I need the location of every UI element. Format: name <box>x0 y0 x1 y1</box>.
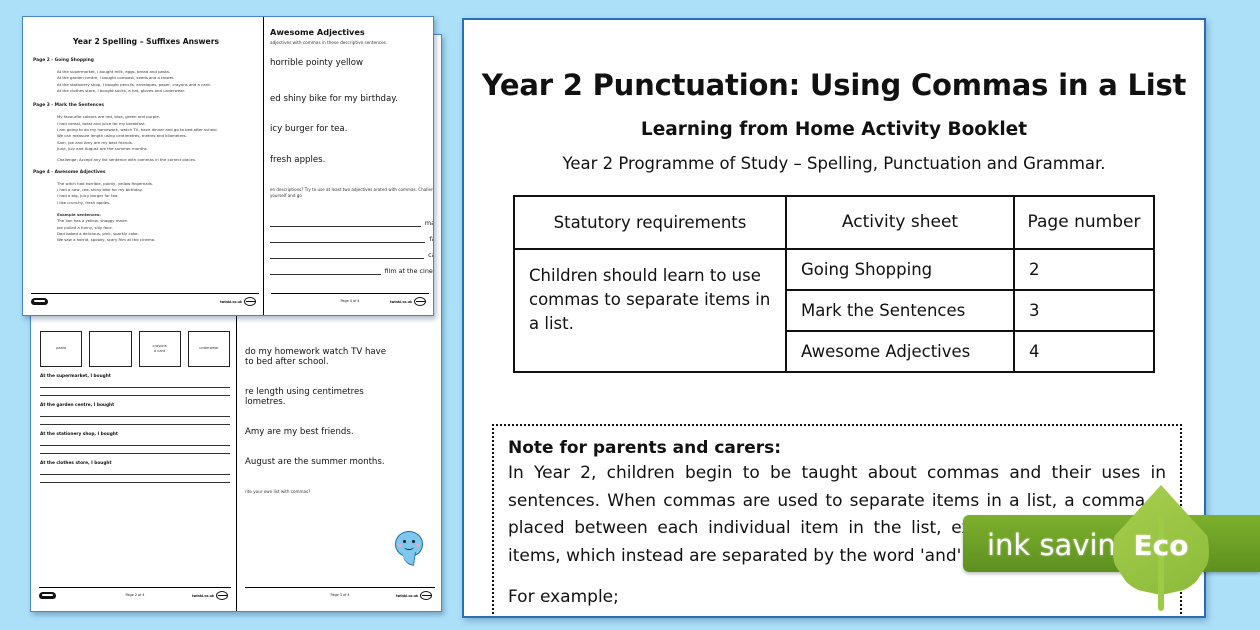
adjectives-answer-row: face. <box>270 234 434 243</box>
comma-cheek-right <box>416 544 420 547</box>
adjectives-answer-row: film at the cinema. <box>270 266 434 275</box>
worksheet-challenge: rite your own list with commas? <box>245 489 441 495</box>
answer-word: cake. <box>428 251 434 259</box>
twinkl-logo-icon <box>39 592 56 599</box>
thumbnail-sheet-front[interactable]: Year 2 Spelling – Suffixes Answers Page … <box>22 16 434 316</box>
answer-line: June, July and August are the summer mon… <box>57 146 259 152</box>
answer-line <box>270 266 381 275</box>
comma-eye-left <box>403 540 406 543</box>
footer-url: twinkl.co.uk <box>192 594 214 598</box>
footer-page-number: Page 3 of 4 <box>330 593 349 597</box>
cell-activity-sheet: Awesome Adjectives <box>786 331 1014 372</box>
adjectives-line: ed shiny bike for my birthday. <box>270 94 434 104</box>
picture-prompt-row: pasta crayonsa card underwear <box>40 331 230 367</box>
answer-line: At the clothes store, I bought socks, a … <box>57 88 259 94</box>
resource-thumbnail-stack[interactable]: pasta crayonsa card underwear At the sup… <box>22 16 442 614</box>
footer-page-number: Page 2 of 4 <box>125 593 144 597</box>
sheet-divider <box>263 17 264 315</box>
cell-activity-sheet: Going Shopping <box>786 249 1014 290</box>
adjectives-line: fresh apples. <box>270 155 434 165</box>
footer-url: twinkl.co.uk <box>390 300 412 304</box>
requirements-table: Statutory requirements Activity sheet Pa… <box>513 195 1155 373</box>
footer-url: twinkl.co.uk <box>396 594 418 598</box>
adjectives-instruction: adjectives with commas in these descript… <box>270 40 434 45</box>
ink-saving-eco-badge: ink saving Eco <box>963 483 1260 613</box>
worksheet-line: do my homework watch TV have <box>245 347 441 357</box>
answer-line <box>270 250 424 259</box>
section-heading: Page 3 - Mark the Sentences <box>33 103 259 108</box>
fill-line <box>40 388 230 397</box>
twinkl-mark-icon <box>244 297 256 306</box>
fill-line <box>40 408 230 417</box>
fill-line <box>40 466 230 475</box>
footer-brand: twinkl.co.uk <box>396 591 432 600</box>
cell-page-number: 3 <box>1014 290 1154 331</box>
adjectives-page-title: Awesome Adjectives <box>270 27 434 37</box>
answer-line <box>270 218 421 227</box>
picture-box: crayonsa card <box>139 331 181 367</box>
fill-line <box>40 437 230 446</box>
footer-brand: twinkl.co.uk <box>192 591 228 600</box>
column-header-activity-sheet: Activity sheet <box>786 196 1014 249</box>
awesome-adjectives-page: Awesome Adjectives adjectives with comma… <box>270 27 434 275</box>
adjectives-line: icy burger for tea. <box>270 124 434 134</box>
leaf-icon: Eco <box>1113 485 1209 609</box>
comma-cheek-left <box>398 544 402 547</box>
twinkl-mark-icon <box>414 297 426 306</box>
sheet-footer: twinkl.co.uk <box>31 293 259 309</box>
comma-tail <box>401 550 416 566</box>
sheet-footer: Page 3 of 4 twinkl.co.uk <box>245 587 435 603</box>
note-heading: Note for parents and carers: <box>508 438 1166 458</box>
answer-word: face. <box>429 235 434 243</box>
programme-of-study: Year 2 Programme of Study – Spelling, Pu… <box>464 154 1204 173</box>
fill-line <box>40 417 230 426</box>
page-title: Year 2 Punctuation: Using Commas in a Li… <box>464 68 1204 102</box>
column-header-page-number: Page number <box>1014 196 1154 249</box>
cell-statutory-requirement: Children should learn to use commas to s… <box>514 249 786 372</box>
section-heading: Page 4 - Awesome Adjectives <box>33 170 259 175</box>
picture-box <box>89 331 131 367</box>
mark-sentences-worksheet: do my homework watch TV have to bed afte… <box>245 335 441 495</box>
eco-badge-leaf-label: Eco <box>1113 529 1209 562</box>
challenge-line: Challenge: Accept any list sentence with… <box>57 157 259 163</box>
footer-brand: twinkl.co.uk <box>390 297 426 306</box>
worksheet-line: re length using centimetres <box>245 387 441 397</box>
fill-line <box>40 446 230 455</box>
comma-eye-right <box>412 540 415 543</box>
footer-brand: twinkl.co.uk <box>220 297 256 306</box>
adjectives-line: horrible pointy yellow <box>270 58 434 68</box>
comma-smile <box>404 544 414 550</box>
footer-page-number: Page 4 of 4 <box>340 299 359 303</box>
twinkl-mark-icon <box>216 591 228 600</box>
fill-line <box>40 475 230 484</box>
table-header-row: Statutory requirements Activity sheet Pa… <box>514 196 1154 249</box>
answer-word: mane. <box>425 219 434 227</box>
worksheet-line: August are the summer months. <box>245 457 441 467</box>
page-subtitle: Learning from Home Activity Booklet <box>464 119 1204 140</box>
cell-page-number: 4 <box>1014 331 1154 372</box>
answer-line <box>270 234 425 243</box>
twinkl-mark-icon <box>420 591 432 600</box>
adjectives-answer-row: mane. <box>270 218 434 227</box>
twinkl-logo-icon <box>31 298 48 305</box>
screenshot-stage: pasta crayonsa card underwear At the sup… <box>0 0 1260 630</box>
cell-page-number: 2 <box>1014 249 1154 290</box>
answers-page-title: Year 2 Spelling – Suffixes Answers <box>33 37 259 46</box>
picture-box: pasta <box>40 331 82 367</box>
section-heading: Page 2 - Going Shopping <box>33 58 259 63</box>
fill-line <box>40 379 230 388</box>
comma-character-icon <box>395 531 425 565</box>
worksheet-line: Amy are my best friends. <box>245 427 441 437</box>
answer-word: film at the cinema. <box>385 267 434 275</box>
sheet-footer: Page 2 of 4 twinkl.co.uk <box>39 587 231 603</box>
adjectives-answer-row: cake. <box>270 250 434 259</box>
worksheet-line: lometres. <box>245 397 441 407</box>
sheet-footer: Page 4 of 4 twinkl.co.uk <box>271 293 429 309</box>
picture-box-label2: a card <box>154 349 165 354</box>
answers-page: Year 2 Spelling – Suffixes Answers Page … <box>33 25 259 244</box>
answer-line: I like crunchy, fresh apples. <box>57 200 259 206</box>
cell-activity-sheet: Mark the Sentences <box>786 290 1014 331</box>
worksheet-line: to bed after school. <box>245 357 441 367</box>
going-shopping-worksheet: pasta crayonsa card underwear At the sup… <box>40 331 230 483</box>
column-header-statutory-requirements: Statutory requirements <box>514 196 786 249</box>
example-line: We saw a horrid, spooky, scary film at t… <box>57 237 259 243</box>
table-row: Children should learn to use commas to s… <box>514 249 1154 290</box>
adjectives-prompt: en descriptions? Try to use at least two… <box>270 187 434 200</box>
picture-box: underwear <box>188 331 230 367</box>
leaf-vein <box>1158 513 1164 611</box>
footer-url: twinkl.co.uk <box>220 300 242 304</box>
